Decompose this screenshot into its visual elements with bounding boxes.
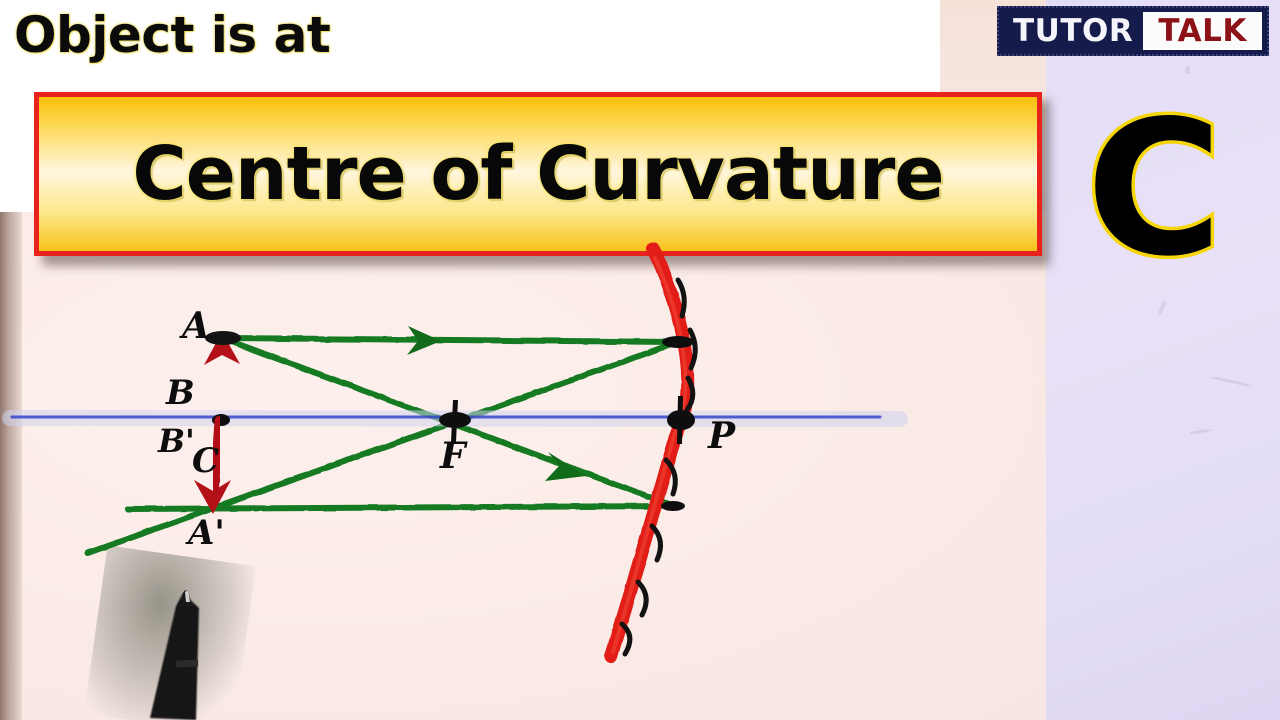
concave-mirror	[611, 248, 688, 656]
ray-diagram: A B B' C A' F P	[0, 208, 1050, 720]
brand-logo: TUTOR TALK	[997, 6, 1269, 56]
ray-arrowheads	[407, 326, 586, 481]
tick-pole	[677, 396, 683, 444]
dot-mirror-top	[662, 336, 694, 348]
banner-label: Centre of Curvature	[132, 131, 943, 217]
label-P: P	[707, 415, 736, 457]
label-A-prime: A'	[185, 513, 225, 553]
ray-incident-parallel	[222, 338, 678, 342]
screenshot-root: Object is at Centre of Curvature TUTOR T…	[0, 0, 1280, 720]
dot-mirror-bottom	[661, 501, 685, 511]
centre-of-curvature-marker: C	[1086, 96, 1223, 282]
label-B: B	[165, 373, 195, 413]
label-B-prime: B'	[157, 422, 195, 460]
paper-speck	[1185, 66, 1190, 74]
logo-word-tutor: TUTOR	[1013, 13, 1133, 49]
label-A: A	[179, 305, 210, 347]
logo-right-block: TALK	[1143, 12, 1262, 50]
pen-object	[150, 590, 199, 720]
logo-left-block: TUTOR	[999, 8, 1143, 54]
label-C: C	[192, 441, 219, 481]
page-title: Object is at	[14, 6, 330, 64]
label-F: F	[439, 435, 468, 477]
logo-word-talk: TALK	[1158, 13, 1247, 49]
arrowhead-lower-ray	[545, 452, 586, 481]
